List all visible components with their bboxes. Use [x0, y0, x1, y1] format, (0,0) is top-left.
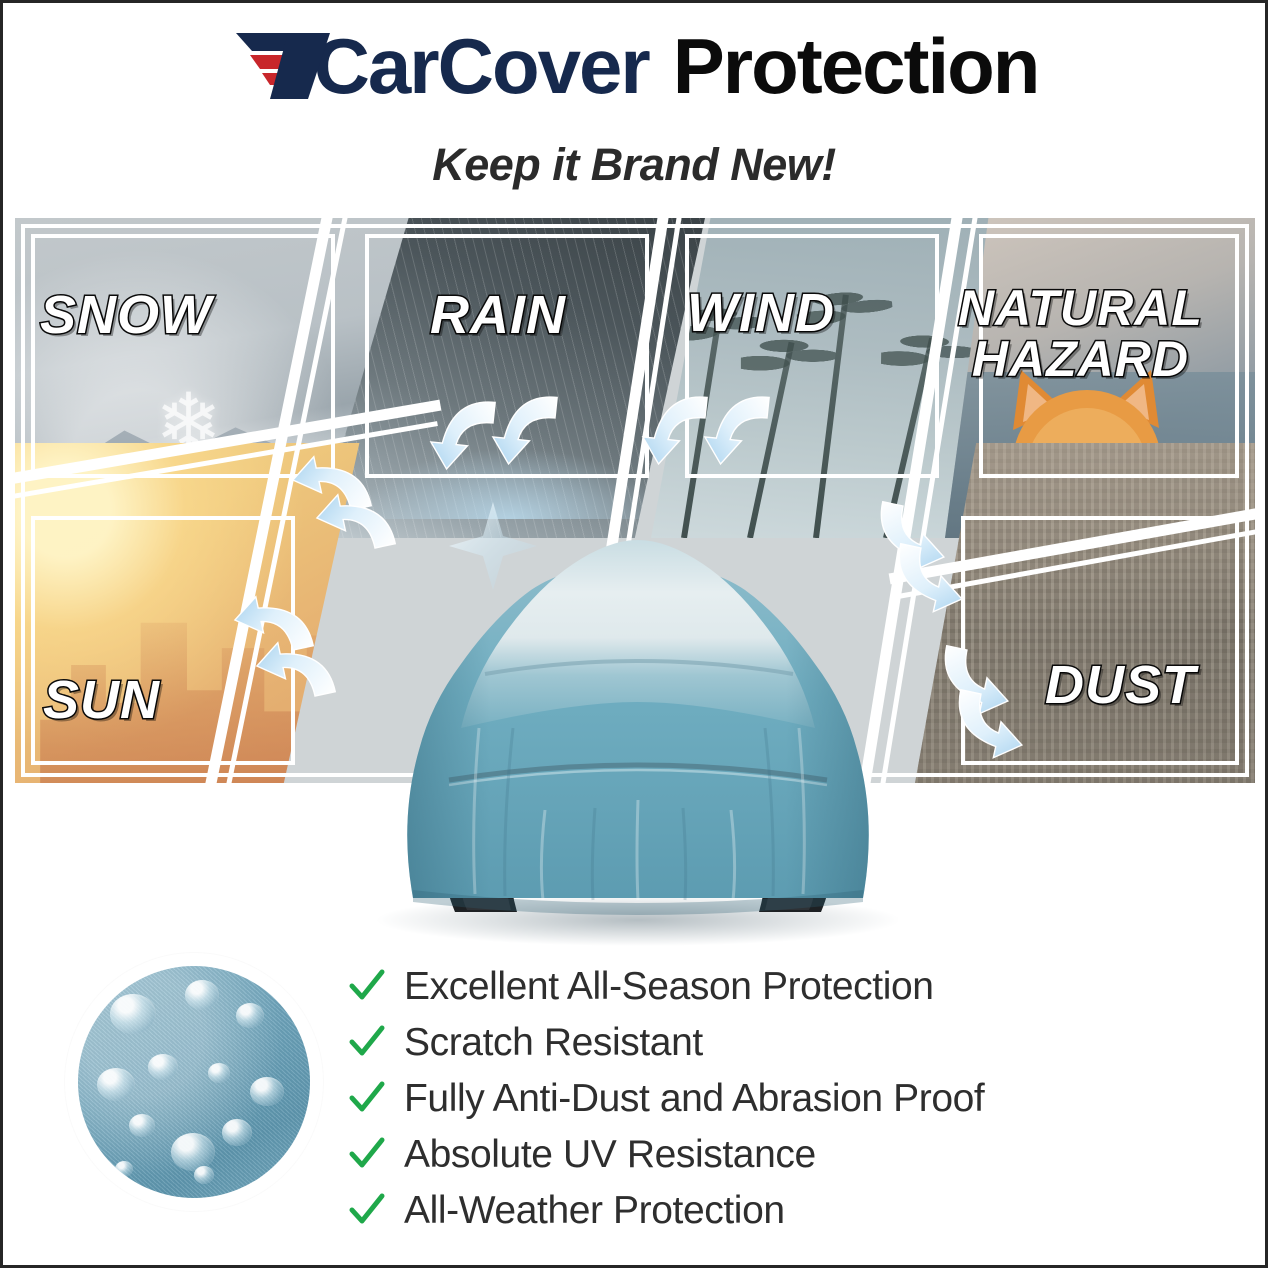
panel-label-wind: WIND — [687, 286, 835, 341]
brand-suffix: Protection — [673, 27, 1039, 105]
panel-label-dust: DUST — [1045, 658, 1196, 713]
list-item: Fully Anti-Dust and Abrasion Proof — [348, 1070, 1178, 1126]
fabric-swatch-image — [78, 966, 310, 1198]
brand-name: CarCover — [314, 27, 649, 105]
feature-label: Scratch Resistant — [404, 1023, 703, 1062]
list-item: Absolute UV Resistance — [348, 1126, 1178, 1182]
icarcover-wing-logo-icon — [230, 27, 334, 105]
feature-label: Fully Anti-Dust and Abrasion Proof — [404, 1079, 984, 1118]
shine-sparkle — [449, 502, 537, 590]
panel-label-sun: SUN — [43, 673, 160, 728]
tagline: Keep it Brand New! — [3, 139, 1265, 191]
list-item: All-Weather Protection — [348, 1182, 1178, 1238]
feature-label: All-Weather Protection — [404, 1191, 785, 1230]
check-icon — [348, 1079, 386, 1117]
check-icon — [348, 967, 386, 1005]
list-item: Scratch Resistant — [348, 1014, 1178, 1070]
panel-label-snow: SNOW — [40, 288, 212, 343]
feature-list: Excellent All-Season Protection Scratch … — [348, 958, 1178, 1238]
check-icon — [348, 1191, 386, 1229]
feature-label: Absolute UV Resistance — [404, 1135, 816, 1174]
panel-label-rain: RAIN — [430, 288, 566, 343]
feature-label: Excellent All-Season Protection — [404, 967, 934, 1006]
fabric-swatch — [65, 953, 323, 1211]
list-item: Excellent All-Season Protection — [348, 958, 1178, 1014]
check-icon — [348, 1023, 386, 1061]
header: CarCover Protection — [3, 27, 1265, 105]
check-icon — [348, 1135, 386, 1173]
panel-label-natural-hazard: NATURAL HAZARD — [958, 283, 1203, 385]
car-with-cover-image — [333, 428, 943, 948]
